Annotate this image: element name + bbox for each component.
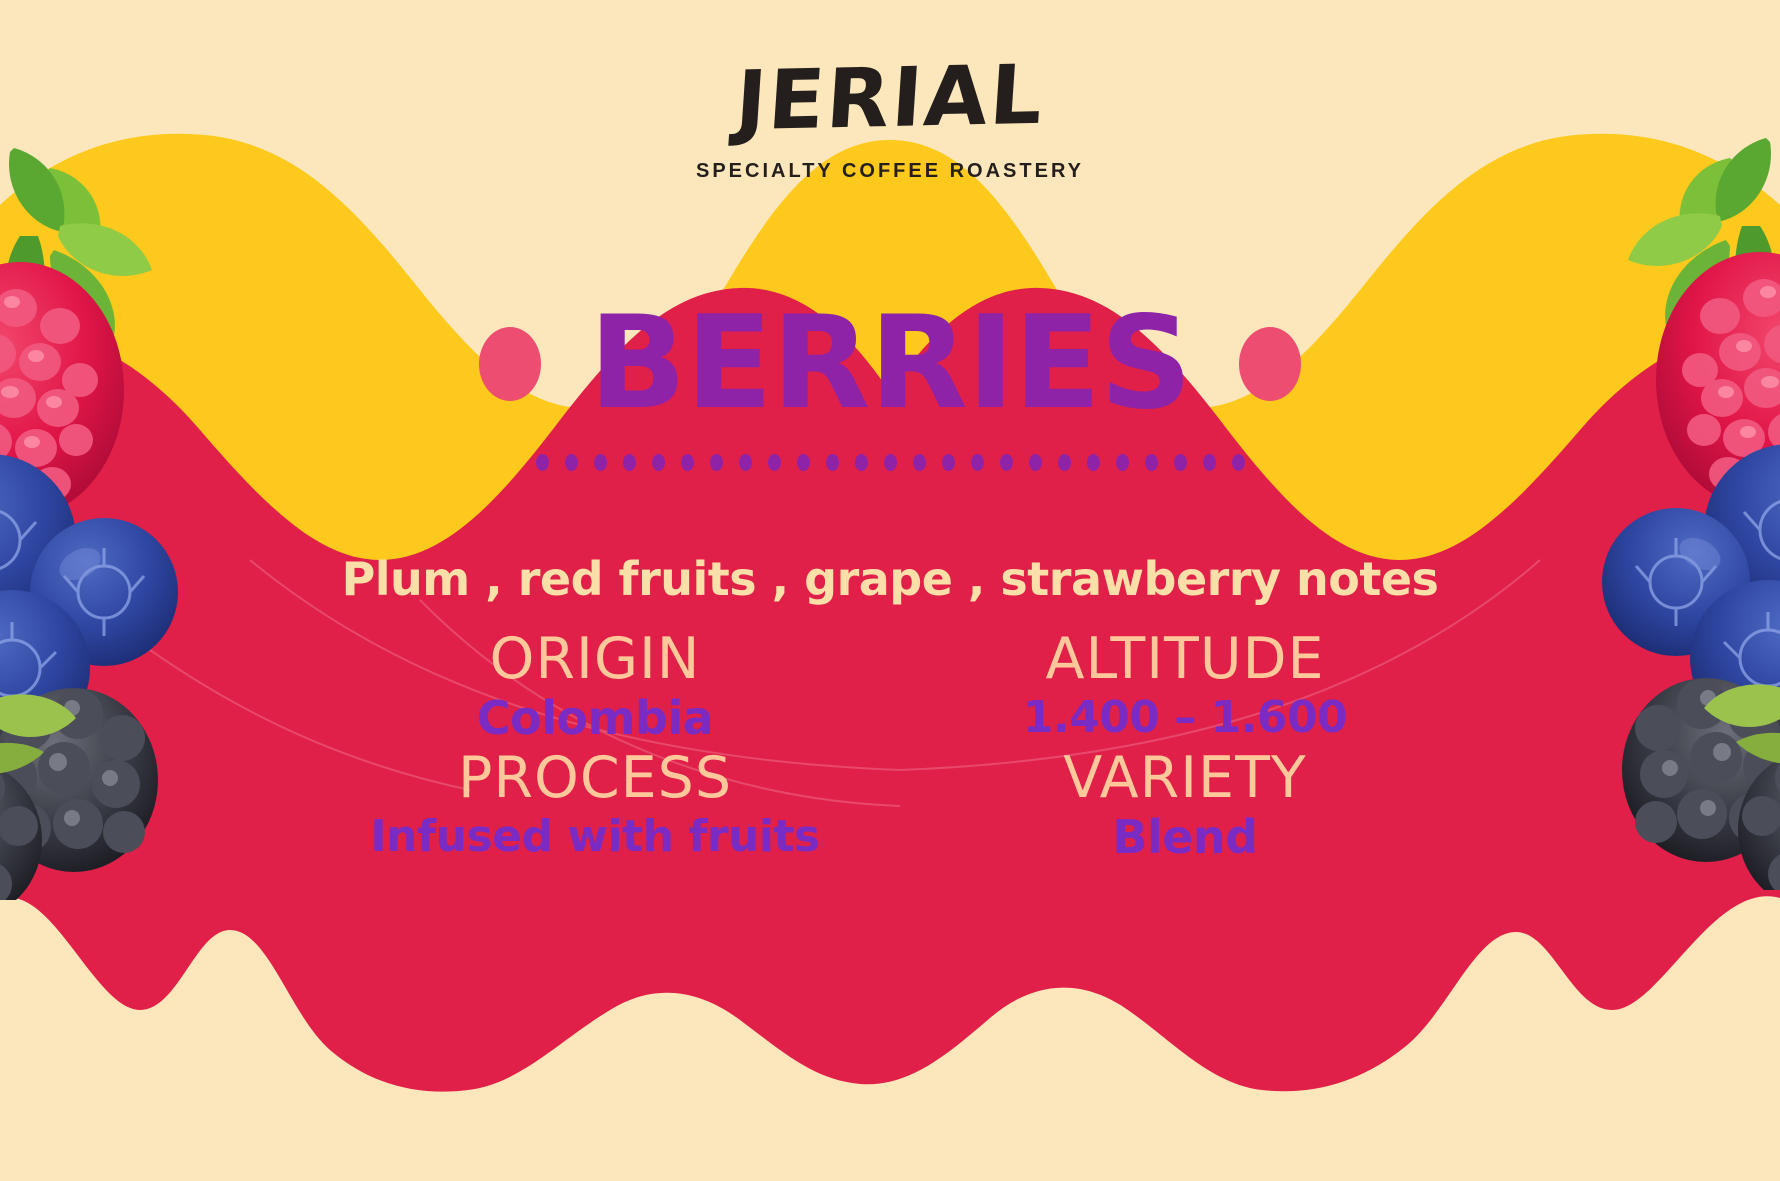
spec-value: Blend	[890, 809, 1480, 867]
divider-dot	[913, 454, 926, 471]
divider-dot	[971, 454, 984, 471]
accent-dot-left-icon	[479, 327, 541, 401]
spec-grid: ORIGINColombiaALTITUDE1.400 – 1.600PROCE…	[0, 628, 1780, 867]
divider-dot	[1203, 454, 1216, 471]
divider-dot	[739, 454, 752, 471]
spec-item-process: PROCESSInfused with fruits	[300, 747, 890, 866]
divider-dot	[855, 454, 868, 471]
spec-value: Infused with fruits	[300, 809, 890, 864]
divider-dot	[768, 454, 781, 471]
spec-item-altitude: ALTITUDE1.400 – 1.600	[890, 628, 1480, 747]
coffee-label-canvas: JERIAL SPECIALTY COFFEE ROASTERY BERRIES…	[0, 0, 1780, 1181]
divider-dot	[942, 454, 955, 471]
divider-dot	[1116, 454, 1129, 471]
divider-dot	[565, 454, 578, 471]
divider-dot	[594, 454, 607, 471]
divider-dot	[1232, 454, 1245, 471]
brand-wordmark: JERIAL	[733, 55, 1047, 143]
hero-title-row: BERRIES	[0, 300, 1780, 428]
divider-dot	[1000, 454, 1013, 471]
divider-dot	[623, 454, 636, 471]
spec-label: ORIGIN	[300, 628, 890, 692]
spec-label: ALTITUDE	[890, 628, 1480, 692]
divider-dot	[1087, 454, 1100, 471]
divider-dot	[536, 454, 549, 471]
product-name: BERRIES	[589, 300, 1191, 428]
spec-item-origin: ORIGINColombia	[300, 628, 890, 747]
divider-dot	[681, 454, 694, 471]
tasting-notes: Plum , red fruits , grape , strawberry n…	[0, 552, 1780, 606]
spec-label: VARIETY	[890, 747, 1480, 811]
divider-dot	[1174, 454, 1187, 471]
divider-dot	[1145, 454, 1158, 471]
brand-tagline: SPECIALTY COFFEE ROASTERY	[0, 160, 1780, 183]
spec-item-variety: VARIETYBlend	[890, 747, 1480, 866]
divider-dot	[1029, 454, 1042, 471]
divider-dot	[652, 454, 665, 471]
divider-dot	[826, 454, 839, 471]
spec-value: Colombia	[300, 690, 890, 748]
brand-lockup: JERIAL SPECIALTY COFFEE ROASTERY	[0, 58, 1780, 183]
accent-dot-right-icon	[1239, 327, 1301, 401]
hero-section: BERRIES	[0, 300, 1780, 471]
divider-dot	[884, 454, 897, 471]
dotted-divider	[0, 454, 1780, 471]
spec-label: PROCESS	[300, 747, 890, 811]
divider-dot	[1058, 454, 1071, 471]
spec-value: 1.400 – 1.600	[890, 690, 1480, 745]
divider-dot	[710, 454, 723, 471]
divider-dot	[797, 454, 810, 471]
